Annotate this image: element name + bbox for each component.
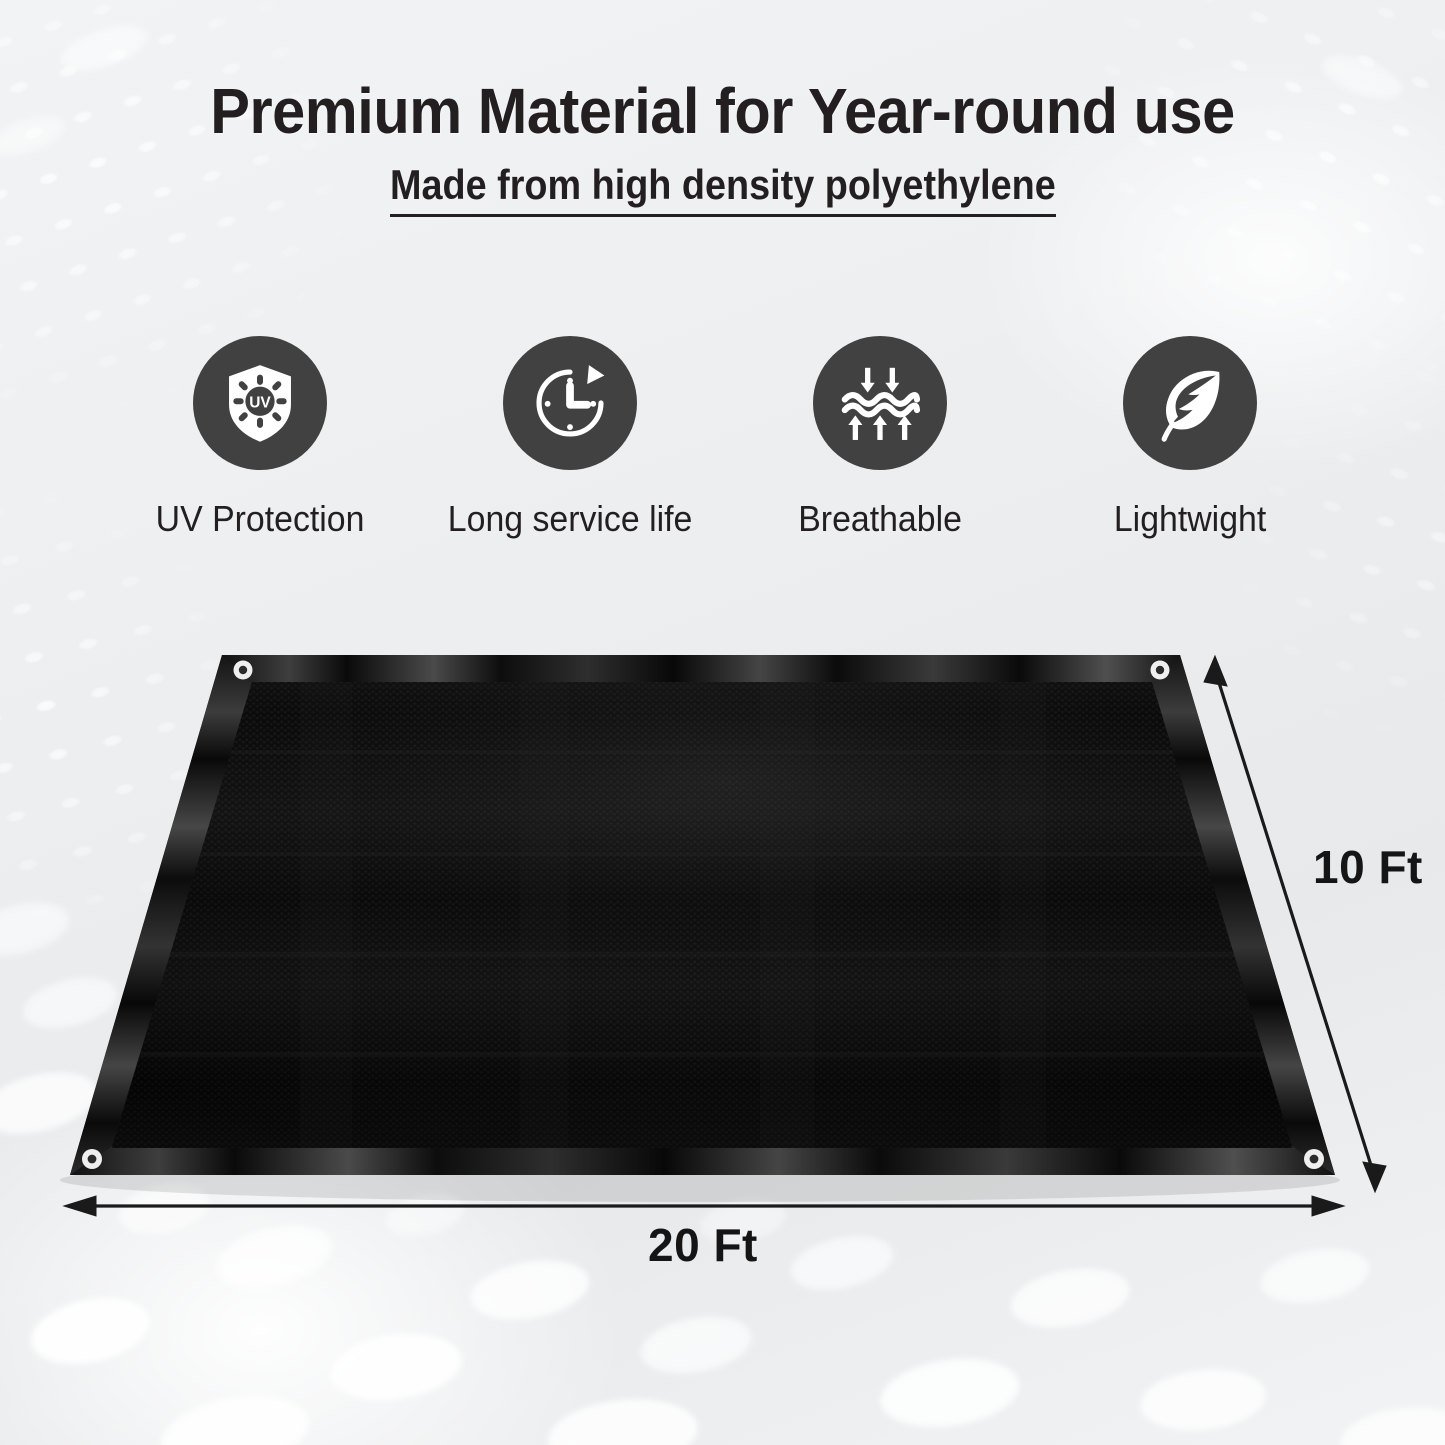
header-block: Premium Material for Year-round use Made… xyxy=(0,78,1445,217)
feature-item-breathable: Breathable xyxy=(730,336,1030,540)
breathable-airflow-icon xyxy=(836,359,924,447)
feature-icon-badge xyxy=(813,336,947,470)
width-dimension-label: 20 Ft xyxy=(648,1218,758,1272)
bokeh-ellipse xyxy=(57,17,152,78)
feather-icon xyxy=(1147,360,1233,446)
bokeh-ellipse xyxy=(636,1309,756,1382)
clock-refresh-icon xyxy=(527,360,613,446)
grommet-bottom-left xyxy=(82,1149,102,1169)
height-dimension-label: 10 Ft xyxy=(1313,840,1423,894)
uv-shield-icon: UV xyxy=(217,360,303,446)
grommet-top-left xyxy=(234,661,253,680)
page-title: Premium Material for Year-round use xyxy=(51,78,1395,145)
feature-label: UV Protection xyxy=(156,498,365,540)
feature-item-uv-protection: UV UV Protection xyxy=(110,336,410,540)
feature-icon-badge xyxy=(503,336,637,470)
bokeh-ellipse xyxy=(1006,1260,1134,1336)
bokeh-ellipse xyxy=(25,1288,155,1374)
feature-icon-badge xyxy=(1123,336,1257,470)
bokeh-ellipse xyxy=(1337,1401,1445,1445)
feature-item-long-service-life: Long service life xyxy=(420,336,720,540)
feature-item-lightweight: Lightwight xyxy=(1040,336,1340,540)
page-subtitle: Made from high density polyethylene xyxy=(390,161,1056,217)
bokeh-ellipse xyxy=(326,1326,466,1408)
bokeh-ellipse xyxy=(1137,1364,1269,1437)
bokeh-ellipse xyxy=(1256,1241,1373,1311)
svg-text:UV: UV xyxy=(249,394,271,411)
feature-label: Breathable xyxy=(798,498,962,540)
bokeh-ellipse xyxy=(155,1386,315,1445)
feature-label: Lightwight xyxy=(1114,498,1266,540)
feature-label: Long service life xyxy=(448,498,693,540)
infographic-page: Premium Material for Year-round use Made… xyxy=(0,0,1445,1445)
bokeh-ellipse xyxy=(466,1252,594,1328)
bokeh-ellipse xyxy=(545,1392,701,1445)
grommet-bottom-right xyxy=(1304,1149,1324,1169)
feature-list: UV UV Protection xyxy=(110,336,1340,540)
shade-cloth-illustration xyxy=(0,600,1445,1240)
feature-icon-badge: UV xyxy=(193,336,327,470)
bokeh-ellipse xyxy=(876,1351,1024,1436)
product-image-area xyxy=(0,600,1445,1240)
grommet-top-right xyxy=(1151,661,1170,680)
